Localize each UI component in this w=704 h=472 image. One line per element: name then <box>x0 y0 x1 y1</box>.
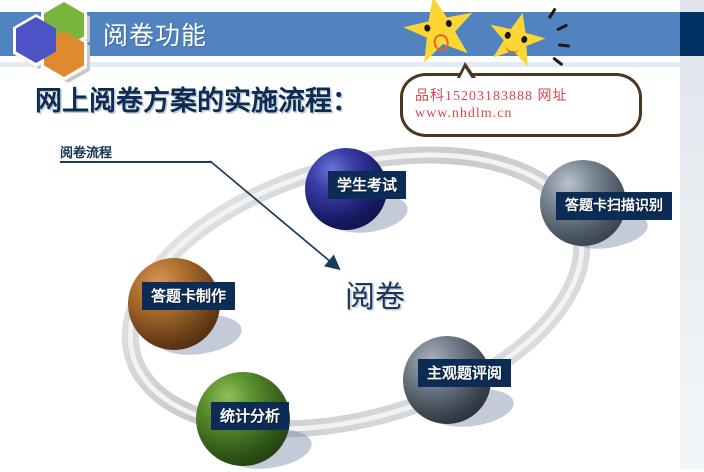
header-bar <box>0 12 680 56</box>
contact-callout-bubble <box>400 73 642 137</box>
center-label: 阅卷 <box>345 272 405 316</box>
callout-line-2: www.nhdlm.cn <box>415 106 512 122</box>
node-subjective-grading-label[interactable]: 主观题评阅 <box>418 359 511 387</box>
flow-process-label: 阅卷流程 <box>60 142 112 161</box>
header-accent-block <box>680 12 704 56</box>
flow-leader-line <box>60 161 211 163</box>
header-title: 阅卷功能 <box>103 16 207 52</box>
slide-canvas: 阅卷功能 网上阅卷方案的实施流程： 品科15203183888 网址 www.n… <box>0 0 704 472</box>
right-frame-divider <box>677 0 680 472</box>
node-answer-sheet-making-label[interactable]: 答题卡制作 <box>142 282 235 310</box>
page-title: 网上阅卷方案的实施流程： <box>35 79 359 118</box>
node-scan-recognition-label[interactable]: 答题卡扫描识别 <box>556 192 672 220</box>
node-student-exam-label[interactable]: 学生考试 <box>328 171 406 199</box>
callout-line-1: 品科15203183888 网址 <box>415 85 568 105</box>
header-underline <box>0 62 680 67</box>
node-statistical-analysis-label[interactable]: 统计分析 <box>211 402 289 430</box>
right-frame-strip <box>680 0 704 472</box>
callout-tail-inner <box>459 68 473 80</box>
